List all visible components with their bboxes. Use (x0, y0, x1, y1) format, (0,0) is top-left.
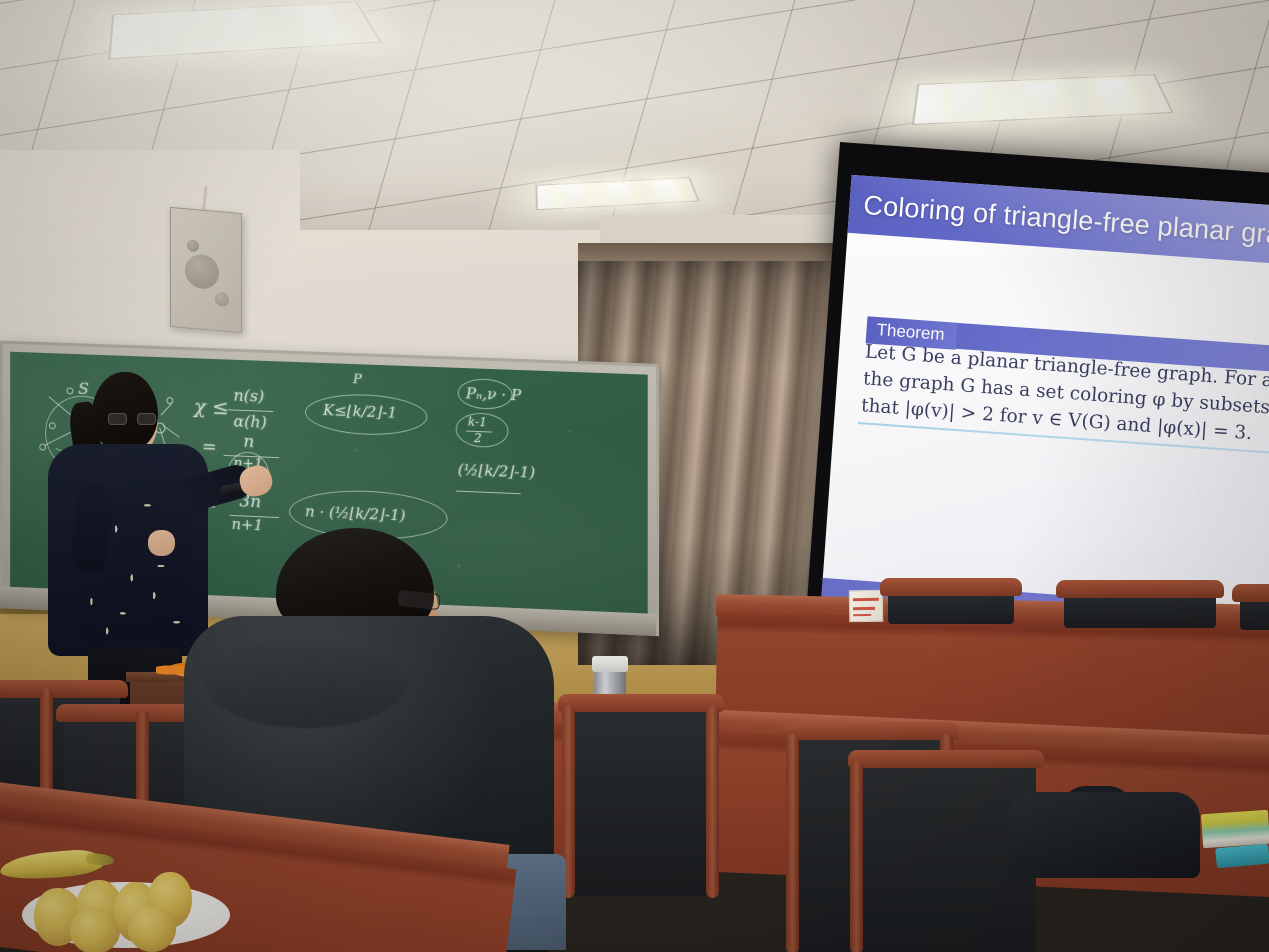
pear-3 (70, 908, 120, 952)
mid-chair-1 (566, 706, 716, 896)
back-chair-far-right (1240, 596, 1269, 630)
book-stack (1201, 810, 1269, 849)
wall-speaker (170, 207, 242, 333)
presenter-glasses (108, 413, 156, 425)
back-chair-right (1064, 592, 1216, 628)
presenter-left-hand (148, 530, 175, 556)
thermos-cap (592, 656, 628, 672)
mid-chair-3 (856, 762, 1036, 952)
back-chair-left (888, 590, 1014, 624)
backpack (1010, 792, 1200, 878)
tissue-box (849, 590, 884, 623)
pear-6 (128, 906, 176, 952)
projection-screen: Coloring of triangle-free planar graphs … (807, 142, 1269, 642)
presenter-hair (92, 372, 158, 450)
audience-shoulder (206, 638, 406, 728)
lecture-room-photo: S χ ≤ n(s) α(h) = n n+1 3 = 3n (0, 0, 1269, 952)
slide-canvas: Coloring of triangle-free planar graphs … (821, 175, 1269, 637)
